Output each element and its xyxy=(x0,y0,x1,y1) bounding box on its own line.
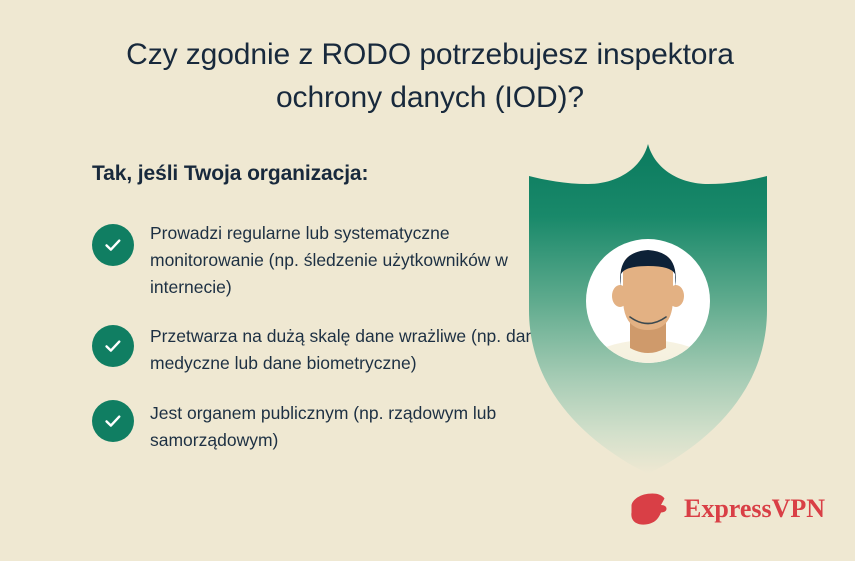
criteria-list: Prowadzi regularne lub systematyczne mon… xyxy=(92,218,562,474)
expressvpn-mark-icon xyxy=(630,492,672,526)
list-item: Jest organem publicznym (np. rządowym lu… xyxy=(92,398,562,454)
expressvpn-logo[interactable]: ExpressVPN xyxy=(630,492,825,526)
section-subtitle: Tak, jeśli Twoja organizacja: xyxy=(92,162,368,186)
list-item-label: Przetwarza na dużą skalę dane wrażliwe (… xyxy=(150,321,562,377)
list-item: Przetwarza na dużą skalę dane wrażliwe (… xyxy=(92,321,562,377)
page-title: Czy zgodnie z RODO potrzebujesz inspekto… xyxy=(60,34,800,119)
check-circle-icon xyxy=(92,224,134,266)
infographic-canvas: Czy zgodnie z RODO potrzebujesz inspekto… xyxy=(0,0,855,561)
check-circle-icon xyxy=(92,400,134,442)
page-title-line-1: Czy zgodnie z RODO potrzebujesz inspekto… xyxy=(126,38,734,71)
expressvpn-wordmark: ExpressVPN xyxy=(684,496,825,522)
check-circle-icon xyxy=(92,325,134,367)
shield-with-person-avatar-illustration xyxy=(503,140,793,480)
list-item-label: Jest organem publicznym (np. rządowym lu… xyxy=(150,398,562,454)
list-item-label: Prowadzi regularne lub systematyczne mon… xyxy=(150,218,562,300)
list-item: Prowadzi regularne lub systematyczne mon… xyxy=(92,218,562,300)
page-title-line-2: ochrony danych (IOD)? xyxy=(276,81,584,114)
